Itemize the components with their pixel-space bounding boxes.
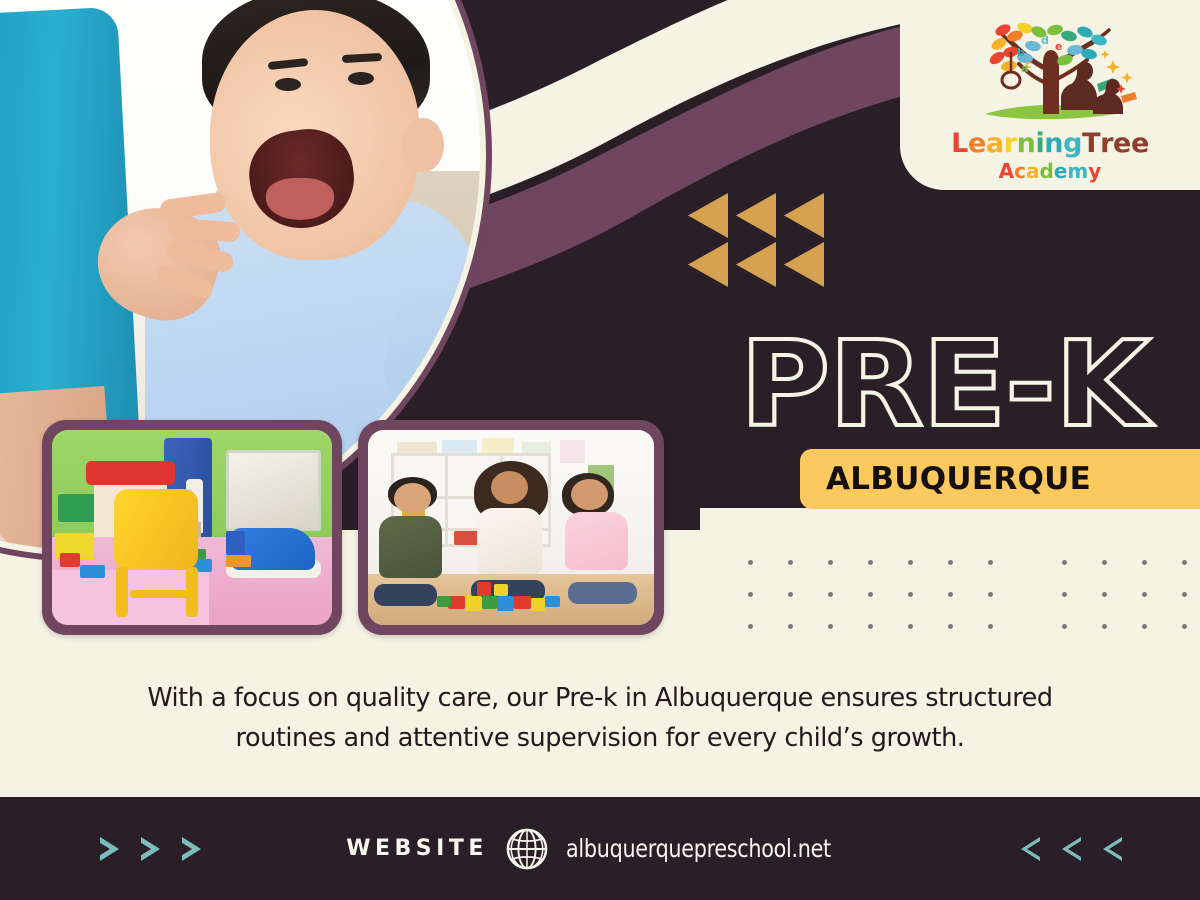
logo-letter: g: [1063, 130, 1082, 157]
grid-dot: [868, 624, 873, 629]
children-playing-photo: [368, 430, 654, 625]
gold-triangle-icon: [784, 193, 824, 238]
svg-text:e: e: [1055, 40, 1062, 53]
brand-logo: b c d e a: [935, 10, 1165, 181]
grid-dot: [1182, 560, 1187, 565]
description-text: With a focus on quality care, our Pre-k …: [130, 678, 1070, 759]
location-banner-label: ALBUQUERQUE: [800, 461, 1091, 497]
gold-triangle-icon: [688, 193, 728, 238]
logo-letter: e: [1054, 161, 1068, 181]
logo-letter: i: [1035, 130, 1044, 157]
grid-dot: [908, 560, 913, 565]
svg-text:d: d: [1041, 34, 1049, 47]
play-triangle-left-icon: [1062, 837, 1081, 861]
grid-dot: [988, 624, 993, 629]
footer-right-arrows: [1021, 837, 1122, 861]
footer-bar: WEBSITE albuquerquepreschool.net: [0, 797, 1200, 900]
footer-website-group: WEBSITE albuquerquepreschool.net: [0, 797, 1200, 900]
grid-dot: [828, 624, 833, 629]
gold-triangle-icon: [784, 242, 824, 287]
grid-dot: [1062, 560, 1067, 565]
poster-canvas: b c d e a: [0, 0, 1200, 900]
logo-letter: d: [1040, 161, 1054, 181]
logo-letter: r: [1100, 130, 1113, 157]
children-playing-photo-card[interactable]: [358, 420, 664, 635]
learning-tree-logo-icon: b c d e a: [963, 10, 1138, 132]
grid-dot: [908, 592, 913, 597]
grid-dot: [1142, 624, 1147, 629]
logo-letter: y: [1088, 161, 1101, 181]
grid-dot: [1182, 624, 1187, 629]
svg-text:a: a: [1021, 62, 1028, 75]
gold-triangle-icon: [736, 193, 776, 238]
location-banner: ALBUQUERQUE: [800, 449, 1200, 509]
brand-logo-wordmark: LearningTree: [935, 130, 1165, 157]
website-label: WEBSITE: [346, 836, 488, 861]
brand-logo-subtitle: Academy: [935, 161, 1165, 181]
grid-dot: [828, 592, 833, 597]
grid-dot: [1142, 560, 1147, 565]
grid-dot: [868, 592, 873, 597]
logo-letter: L: [951, 130, 968, 157]
grid-dot: [1182, 592, 1187, 597]
logo-letter: e: [1113, 130, 1131, 157]
gold-triangle-icon: [736, 242, 776, 287]
grid-dot: [948, 624, 953, 629]
grid-dot: [828, 560, 833, 565]
play-triangle-left-icon: [1021, 837, 1040, 861]
logo-letter: n: [1044, 130, 1063, 157]
grid-dot: [948, 560, 953, 565]
page-title: PRE-K: [740, 325, 1149, 443]
gold-triangle-decoration: [688, 193, 832, 287]
grid-dot: [988, 592, 993, 597]
logo-letter: c: [1014, 161, 1026, 181]
dot-grid-block: [748, 560, 1028, 656]
logo-letter: n: [1017, 130, 1036, 157]
logo-letter: a: [1026, 161, 1040, 181]
svg-text:b: b: [1017, 46, 1025, 59]
grid-dot: [868, 560, 873, 565]
brand-logo-panel[interactable]: b c d e a: [900, 0, 1200, 190]
globe-icon: [506, 828, 548, 870]
play-triangle-left-icon: [1103, 837, 1122, 861]
grid-dot: [948, 592, 953, 597]
grid-dot: [748, 592, 753, 597]
preschool-playroom-photo-card[interactable]: [42, 420, 342, 635]
grid-dot: [1062, 592, 1067, 597]
logo-letter: A: [999, 161, 1014, 181]
dot-grid-block: [1062, 560, 1200, 656]
grid-dot: [748, 624, 753, 629]
grid-dot: [1102, 624, 1107, 629]
dot-grid-decoration: [748, 560, 1200, 656]
grid-dot: [748, 560, 753, 565]
logo-letter: T: [1082, 130, 1100, 157]
preschool-playroom-photo: [52, 430, 332, 625]
logo-letter: e: [1131, 130, 1149, 157]
logo-letter: r: [1004, 130, 1017, 157]
grid-dot: [908, 624, 913, 629]
grid-dot: [788, 560, 793, 565]
logo-letter: m: [1067, 161, 1088, 181]
grid-dot: [788, 624, 793, 629]
logo-letter: e: [968, 130, 986, 157]
gold-triangle-icon: [688, 242, 728, 287]
grid-dot: [1142, 592, 1147, 597]
grid-dot: [1102, 560, 1107, 565]
website-url[interactable]: albuquerquepreschool.net: [566, 834, 831, 863]
grid-dot: [1102, 592, 1107, 597]
grid-dot: [1062, 624, 1067, 629]
grid-dot: [788, 592, 793, 597]
grid-dot: [988, 560, 993, 565]
logo-letter: a: [986, 130, 1004, 157]
